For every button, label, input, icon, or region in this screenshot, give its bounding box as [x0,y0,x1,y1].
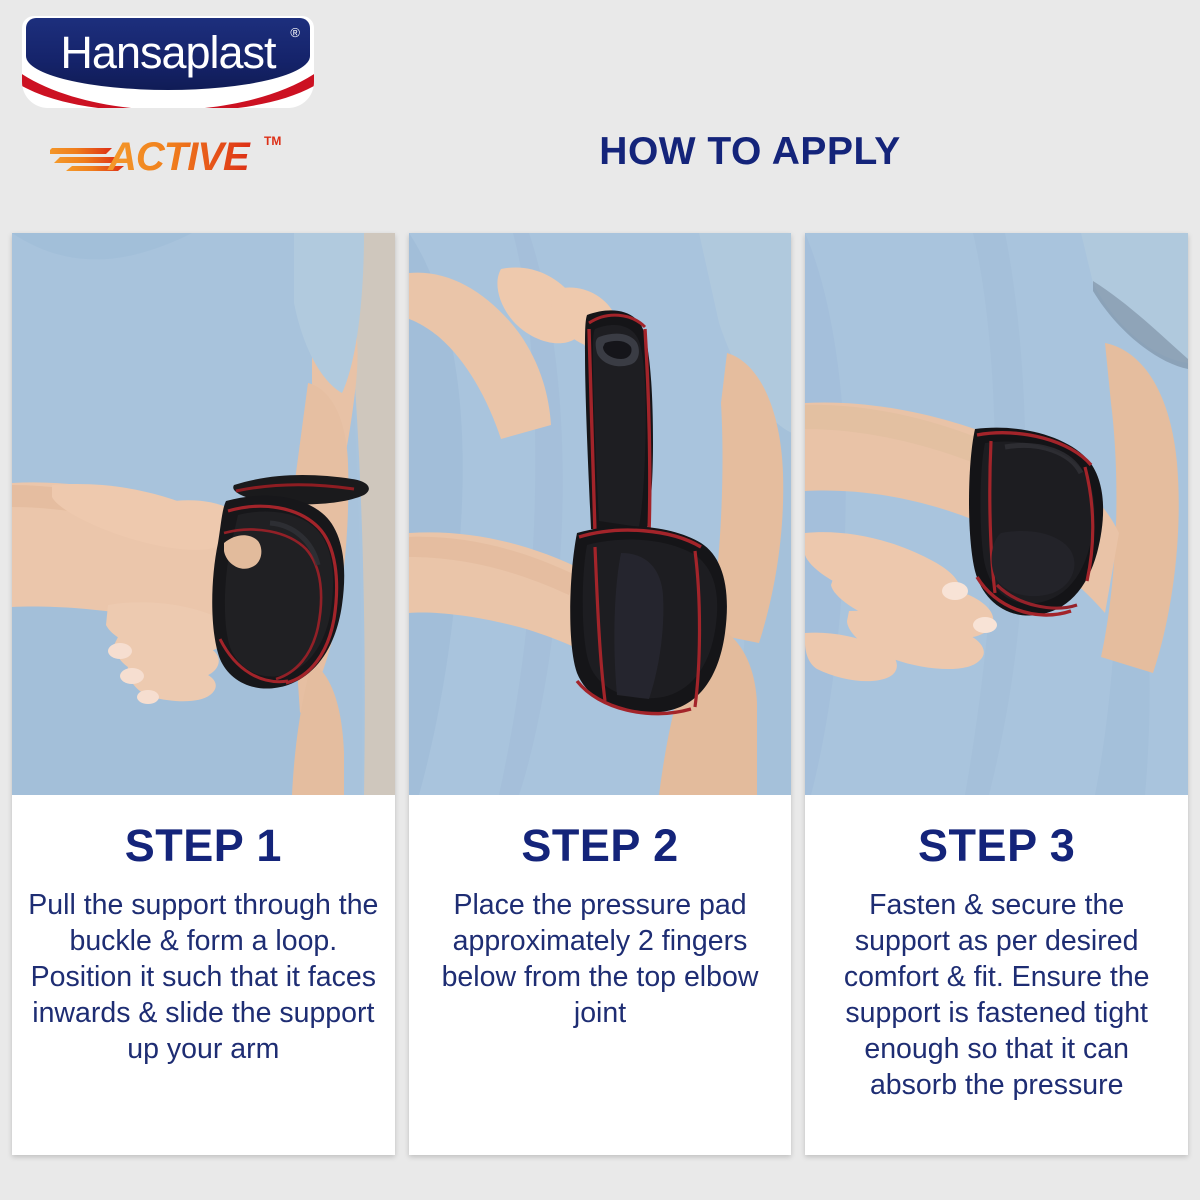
step-1-heading: STEP 1 [26,821,381,871]
step-2-heading: STEP 2 [423,821,778,871]
brand-lockup: Hansaplast ® [22,16,314,176]
step-3-body: Fasten & secure the support as per desir… [819,887,1174,1103]
step-3-heading: STEP 3 [819,821,1174,871]
step-card-1: STEP 1 Pull the support through the buck… [12,233,395,1155]
step-3-photo [805,233,1188,795]
step-1-body: Pull the support through the buckle & fo… [26,887,381,1067]
registered-trademark-icon: ® [290,26,300,39]
logo-swoosh-icon [22,74,314,108]
step-2-body: Place the pressure pad approximately 2 f… [423,887,778,1031]
page-title: HOW TO APPLY [330,128,1170,176]
step-2-photo [409,233,792,795]
step-3-text: STEP 3 Fasten & secure the support as pe… [805,795,1188,1155]
step-card-3: STEP 3 Fasten & secure the support as pe… [805,233,1188,1155]
step-card-2: STEP 2 Place the pressure pad approximat… [409,233,792,1155]
active-sub-brand-logo: ACTIVE TM [50,128,300,178]
hansaplast-logo: Hansaplast ® [22,16,314,108]
svg-text:TM: TM [264,134,281,148]
step-1-text: STEP 1 Pull the support through the buck… [12,795,395,1155]
step-1-photo [12,233,395,795]
steps-container: STEP 1 Pull the support through the buck… [12,233,1188,1155]
svg-text:ACTIVE: ACTIVE [107,135,251,178]
page-header: Hansaplast ® [0,0,1200,233]
step-2-text: STEP 2 Place the pressure pad approximat… [409,795,792,1155]
